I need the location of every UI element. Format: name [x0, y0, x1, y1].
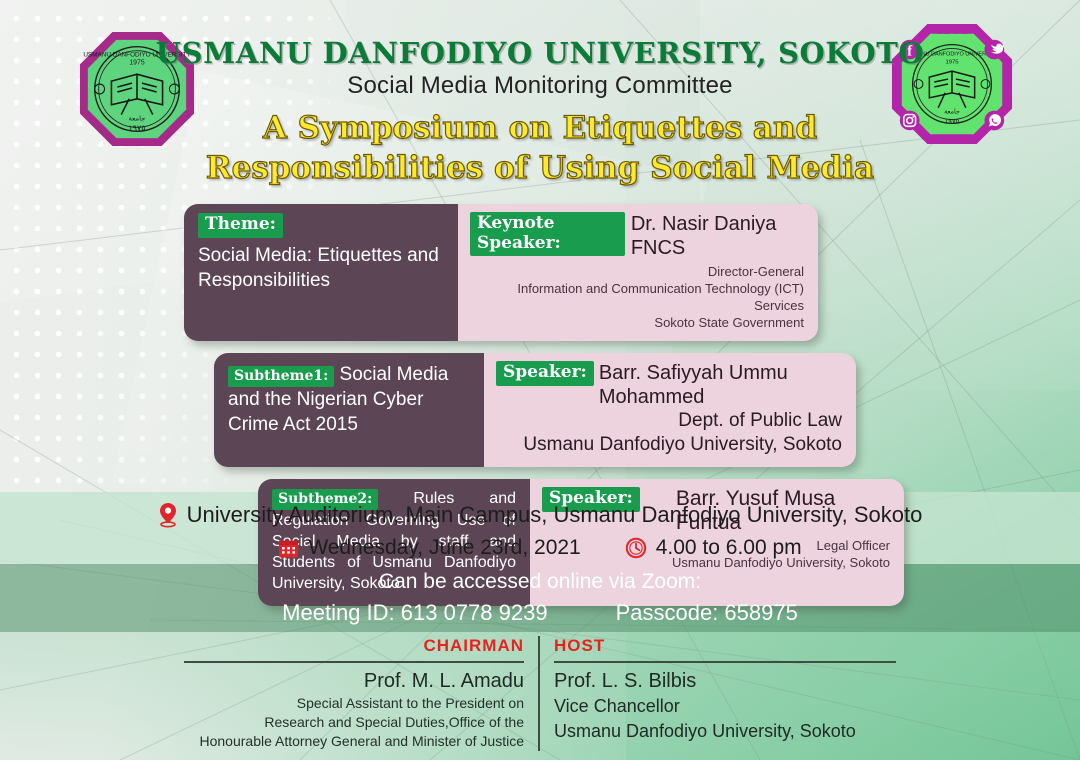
- chairman-title-1: Special Assistant to the President on: [184, 694, 524, 713]
- keynote-speaker-name: Dr. Nasir Daniya FNCS: [631, 212, 804, 260]
- chairman-title-2: Research and Special Duties,Office of th…: [184, 713, 524, 732]
- subtheme1-speaker-tag: Speaker:: [496, 361, 594, 386]
- subtheme1-speaker-pane: Speaker: Barr. Safiyyah Ummu Mohammed De…: [484, 353, 856, 467]
- subtheme1-speaker-name: Barr. Safiyyah Ummu Mohammed: [599, 361, 842, 409]
- keynote-speaker-tag: Keynote Speaker:: [470, 212, 625, 256]
- chairman-column: CHAIRMAN Prof. M. L. Amadu Special Assis…: [170, 636, 540, 751]
- host-column: HOST Prof. L. S. Bilbis Vice Chancellor …: [540, 636, 910, 751]
- venue-time: 4.00 to 6.00 pm: [656, 533, 802, 563]
- subtheme1-pane: Subtheme1: Social Media and the Nigerian…: [214, 353, 484, 467]
- theme-pane: Theme: Social Media: Etiquettes and Resp…: [184, 204, 458, 341]
- poster-header: USMANU DANFODIYO UNIVERSITY, SOKOTO Soci…: [0, 36, 1080, 188]
- theme-tag: Theme:: [198, 213, 283, 238]
- zoom-access-title: Can be accessed online via Zoom:: [0, 568, 1080, 596]
- committee-name: Social Media Monitoring Committee: [0, 72, 1080, 100]
- location-pin-icon: [158, 502, 178, 528]
- venue-date: Wednesday, June 23rd, 2021: [308, 533, 580, 563]
- keynote-sub-2: Information and Communication Technology…: [470, 280, 804, 314]
- subtheme1-row: Subtheme1: Social Media and the Nigerian…: [214, 353, 1080, 467]
- calendar-icon: [278, 538, 299, 559]
- subtheme1-speaker-sub-2: Usmanu Danfodiyo University, Sokoto: [496, 433, 842, 457]
- venue-details: University Auditorium, Main Campus, Usma…: [0, 500, 1080, 563]
- subtheme1-speaker-sub-1: Dept. of Public Law: [496, 409, 842, 433]
- host-title-1: Vice Chancellor: [554, 694, 896, 719]
- symposium-title-line2: Responsibilities of Using Social Media: [0, 148, 1080, 188]
- clock-icon: [625, 537, 647, 559]
- host-heading: HOST: [554, 636, 896, 663]
- chairman-heading: CHAIRMAN: [184, 636, 524, 663]
- venue-location: University Auditorium, Main Campus, Usma…: [187, 500, 923, 530]
- theme-row: Theme: Social Media: Etiquettes and Resp…: [184, 204, 1080, 341]
- university-name: USMANU DANFODIYO UNIVERSITY, SOKOTO: [0, 36, 1080, 70]
- chairman-title-3: Honourable Attorney General and Minister…: [184, 732, 524, 751]
- subtheme1-tag: Subtheme1:: [228, 366, 334, 387]
- poster-canvas: USMANU DANFODIYO UNIVERSITY 1975 جامعة ١…: [0, 0, 1080, 760]
- keynote-sub-1: Director-General: [470, 263, 804, 280]
- host-name: Prof. L. S. Bilbis: [554, 668, 896, 694]
- zoom-passcode: Passcode: 658975: [616, 598, 798, 628]
- chairman-name: Prof. M. L. Amadu: [184, 668, 524, 694]
- symposium-title-line1: A Symposium on Etiquettes and: [0, 108, 1080, 148]
- host-title-2: Usmanu Danfodiyo University, Sokoto: [554, 719, 896, 744]
- keynote-pane: Keynote Speaker: Dr. Nasir Daniya FNCS D…: [458, 204, 818, 341]
- officials-footer: CHAIRMAN Prof. M. L. Amadu Special Assis…: [0, 636, 1080, 751]
- theme-text: Social Media: Etiquettes and Responsibil…: [198, 243, 444, 293]
- symposium-title: A Symposium on Etiquettes and Responsibi…: [0, 108, 1080, 188]
- smmc-top-label: UDUS: [935, 23, 969, 37]
- keynote-sub-3: Sokoto State Government: [470, 314, 804, 331]
- online-access: Can be accessed online via Zoom: Meeting…: [0, 568, 1080, 628]
- zoom-meeting-id: Meeting ID: 613 0778 9239: [282, 598, 547, 628]
